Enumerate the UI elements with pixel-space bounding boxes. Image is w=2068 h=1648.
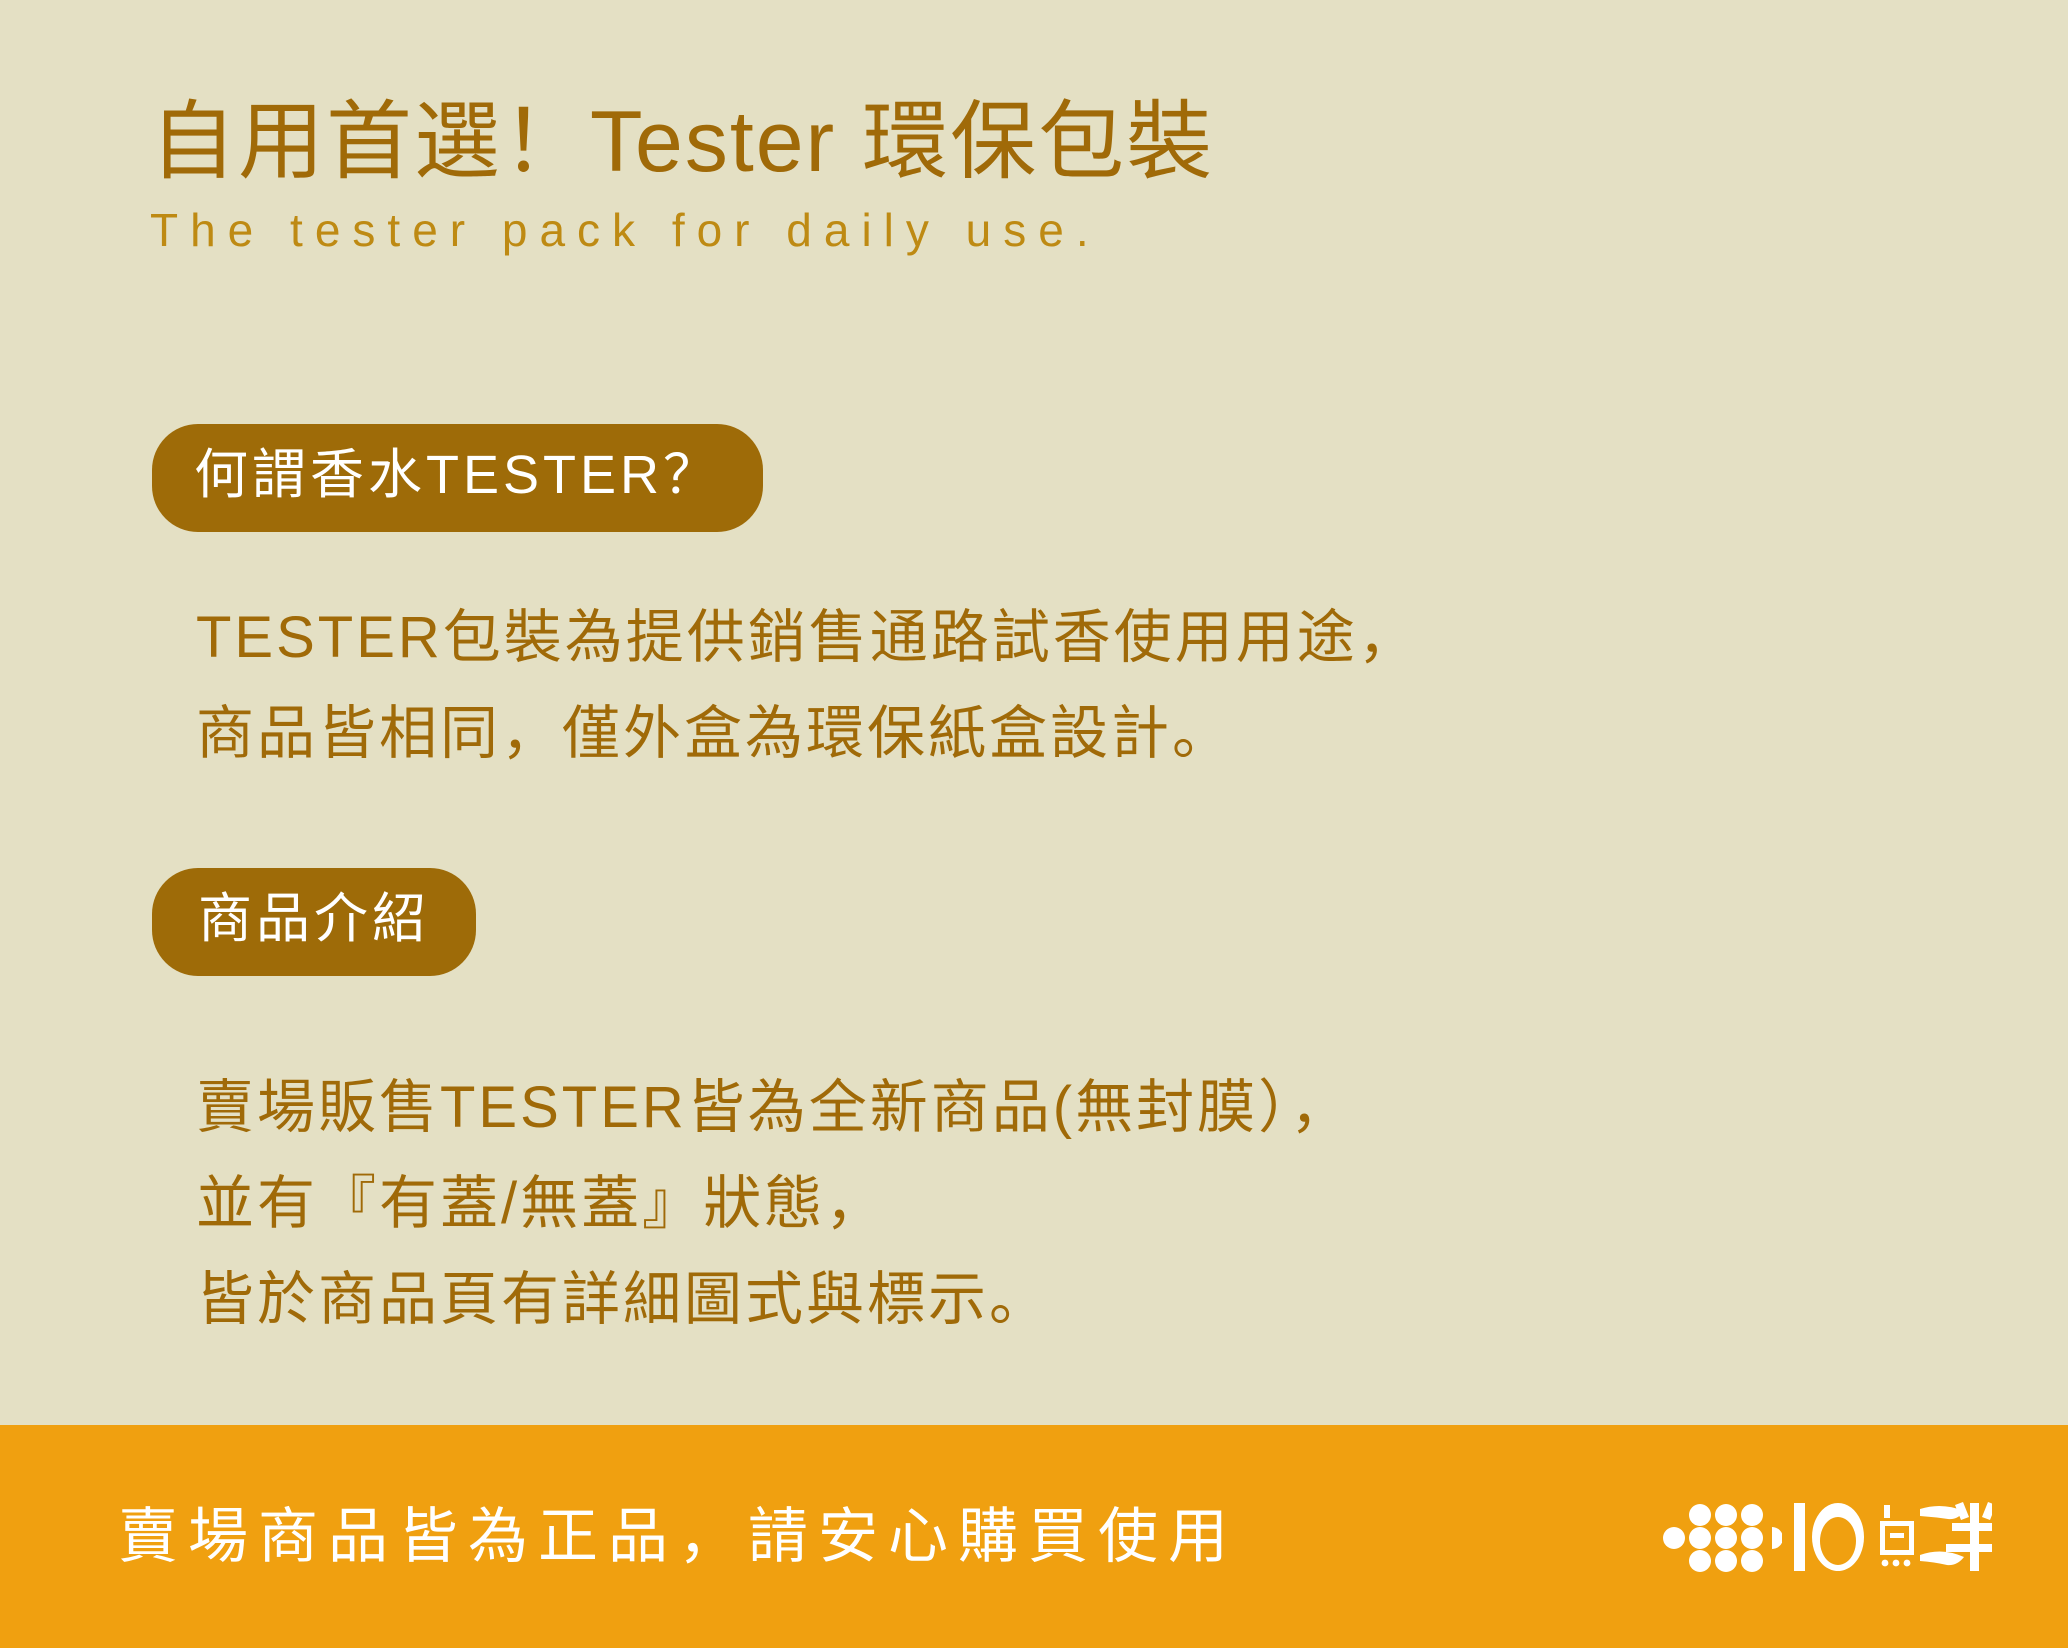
body-line: 賣場販售TESTER皆為全新商品(無封膜）， (196, 1060, 1351, 1156)
page-title: 自用首選！Tester 環保包裝 (150, 96, 1214, 189)
brand-logo: 10點半 (1654, 1499, 1992, 1575)
page-subtitle: The tester pack for daily use. (150, 205, 1214, 256)
body-line: 並有『有蓋/無蓋』狀態， (196, 1156, 1351, 1252)
pill-label: 商品介紹 (198, 892, 430, 946)
ten-half-wordmark-icon (1792, 1499, 1992, 1575)
body-line: TESTER包裝為提供銷售通路試香使用用途， (196, 590, 1419, 686)
section-body-product-intro: 賣場販售TESTER皆為全新商品(無封膜）， 並有『有蓋/無蓋』狀態， 皆於商品… (196, 1060, 1351, 1348)
promo-banner: 自用首選！Tester 環保包裝 The tester pack for dai… (0, 0, 2068, 1648)
section-pill-product-intro: 商品介紹 (152, 868, 476, 976)
body-line: 商品皆相同，僅外盒為環保紙盒設計。 (196, 686, 1419, 782)
body-line: 皆於商品頁有詳細圖式與標示。 (196, 1252, 1351, 1348)
section-pill-what-is-tester: 何謂香水TESTER？ (152, 424, 763, 532)
section-body-what-is-tester: TESTER包裝為提供銷售通路試香使用用途， 商品皆相同，僅外盒為環保紙盒設計。 (196, 590, 1419, 782)
footer-bar: 賣場商品皆為正品，請安心購買使用 (0, 1425, 2068, 1648)
header: 自用首選！Tester 環保包裝 The tester pack for dai… (150, 96, 1214, 255)
footer-message: 賣場商品皆為正品，請安心購買使用 (118, 1507, 1238, 1567)
dot-grid-icon (1654, 1501, 1782, 1573)
pill-label: 何謂香水TESTER？ (194, 448, 721, 502)
